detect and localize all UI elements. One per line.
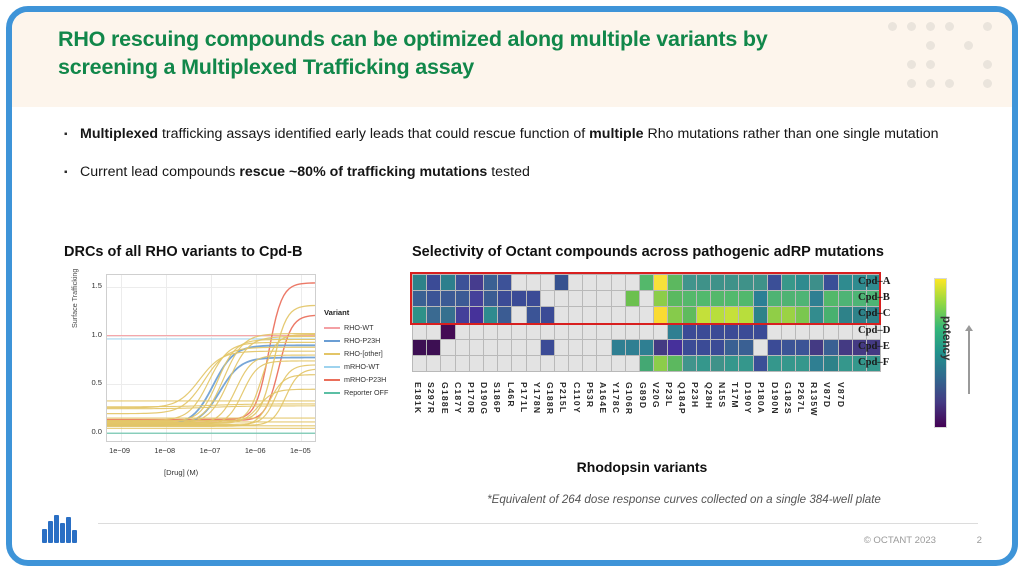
- copyright-text: © OCTANT 2023: [864, 535, 936, 546]
- heatmap-cell: [810, 307, 823, 322]
- heatmap-column-label: N15S: [717, 382, 727, 454]
- heatmap-cell: [498, 307, 511, 322]
- drc-legend-item: RHO-P23H: [324, 334, 394, 347]
- heatmap-cell: [470, 340, 483, 355]
- heatmap-cell: [484, 307, 497, 322]
- heatmap-cell: [413, 307, 426, 322]
- bullet-item: ▪ Multiplexed trafficking assays identif…: [64, 124, 974, 146]
- heatmap-cell: [796, 324, 809, 339]
- heatmap-cell: [527, 291, 540, 306]
- heatmap-cell: [597, 307, 610, 322]
- heatmap-cell: [512, 275, 525, 290]
- heatmap-cell: [668, 340, 681, 355]
- heatmap-cell: [668, 275, 681, 290]
- heatmap-cell: [839, 356, 852, 371]
- heatmap-cell: [427, 291, 440, 306]
- heatmap-row-label: Cpd–C: [852, 306, 890, 322]
- heatmap-cell: [484, 324, 497, 339]
- heatmap-cell: [640, 356, 653, 371]
- heatmap-cell: [597, 324, 610, 339]
- heatmap-cell: [640, 340, 653, 355]
- heatmap-cell: [413, 324, 426, 339]
- heatmap-cell: [725, 340, 738, 355]
- heatmap-cell: [597, 275, 610, 290]
- heatmap-column-label: G188E: [440, 382, 450, 454]
- drc-legend-label: RHO-WT: [344, 323, 374, 332]
- page-title: RHO rescuing compounds can be optimized …: [58, 25, 858, 82]
- heatmap-cell: [569, 356, 582, 371]
- heatmap-cell: [697, 340, 710, 355]
- heatmap-cell: [754, 324, 767, 339]
- heatmap-cell: [839, 307, 852, 322]
- heatmap-column-label: Q184P: [677, 382, 687, 454]
- heatmap-cell: [427, 324, 440, 339]
- logo-bar: [48, 521, 53, 543]
- heatmap-cell: [612, 275, 625, 290]
- heatmap-cell: [583, 307, 596, 322]
- heatmap-cell: [768, 275, 781, 290]
- heatmap-cell: [711, 340, 724, 355]
- heatmap-cell: [810, 356, 823, 371]
- drc-legend-title: Variant: [324, 308, 394, 317]
- heatmap-cell: [456, 340, 469, 355]
- drc-legend-swatch: [324, 353, 340, 355]
- heatmap-column-label: P23L: [664, 382, 674, 454]
- heatmap-cell: [754, 356, 767, 371]
- heatmap-cell: [697, 307, 710, 322]
- heatmap-column-label: D190G: [479, 382, 489, 454]
- drc-y-tick: 0.5: [78, 378, 102, 387]
- heatmap-row-label: Cpd–D: [852, 323, 890, 339]
- heatmap-cell: [626, 340, 639, 355]
- heatmap-cell: [612, 340, 625, 355]
- heatmap-column-label: G106R: [624, 382, 634, 454]
- heatmap-cell: [683, 307, 696, 322]
- heatmap-cell: [527, 307, 540, 322]
- heatmap-cell: [796, 275, 809, 290]
- heatmap-cell: [640, 275, 653, 290]
- drc-chart-title: DRCs of all RHO variants to Cpd-B: [64, 244, 302, 260]
- heatmap-column-label: V87D: [836, 382, 846, 454]
- heatmap-cell: [626, 324, 639, 339]
- potency-colorbar: potency: [934, 278, 947, 428]
- heatmap-cell: [555, 356, 568, 371]
- heatmap-cell: [725, 324, 738, 339]
- drc-x-tick: 1e−08: [154, 446, 175, 455]
- colorbar-label: potency: [940, 316, 953, 360]
- heatmap-cell: [555, 307, 568, 322]
- heatmap-cell: [739, 324, 752, 339]
- heatmap-cell: [569, 324, 582, 339]
- drc-legend: Variant RHO-WTRHO-P23HRHO-[other]mRHO-WT…: [324, 308, 394, 399]
- heatmap-cell: [697, 324, 710, 339]
- heatmap-cell: [654, 324, 667, 339]
- drc-legend-swatch: [324, 327, 340, 329]
- heatmap-cell: [541, 275, 554, 290]
- heatmap-cell: [711, 275, 724, 290]
- colorbar-up-arrow: [968, 330, 970, 394]
- heatmap-row-label: Cpd–F: [852, 355, 890, 371]
- heatmap-cell: [612, 324, 625, 339]
- heatmap-column-label: C110Y: [572, 382, 582, 454]
- heatmap-cell: [711, 356, 724, 371]
- heatmap-cell: [824, 307, 837, 322]
- bullet-item: ▪ Current lead compounds rescue ~80% of …: [64, 162, 974, 184]
- heatmap-cell: [782, 324, 795, 339]
- heatmap-cell: [654, 356, 667, 371]
- heatmap-title: Selectivity of Octant compounds across p…: [412, 244, 884, 260]
- footer-divider: [98, 523, 978, 524]
- heatmap-cell: [569, 275, 582, 290]
- heatmap-cell: [413, 291, 426, 306]
- heatmap-cell: [441, 340, 454, 355]
- heatmap-cell: [441, 324, 454, 339]
- heatmap: [412, 274, 881, 372]
- drc-legend-label: RHO-[other]: [344, 349, 383, 358]
- drc-y-tick: 1.5: [78, 281, 102, 290]
- heatmap-cell: [456, 275, 469, 290]
- heatmap-column-label: Y178C: [611, 382, 621, 454]
- heatmap-cell: [824, 291, 837, 306]
- heatmap-cell: [484, 356, 497, 371]
- heatmap-cell: [683, 275, 696, 290]
- heatmap-column-label: D190Y: [743, 382, 753, 454]
- heatmap-column-label: A164E: [598, 382, 608, 454]
- heatmap-cell: [725, 356, 738, 371]
- heatmap-cell: [683, 356, 696, 371]
- heatmap-cell: [597, 356, 610, 371]
- heatmap-cell: [413, 275, 426, 290]
- heatmap-column-label: Y178N: [532, 382, 542, 454]
- heatmap-cell: [541, 324, 554, 339]
- heatmap-cell: [640, 324, 653, 339]
- heatmap-cell: [569, 307, 582, 322]
- drc-legend-label: mRHO-WT: [344, 362, 380, 371]
- heatmap-cell: [654, 307, 667, 322]
- heatmap-cell: [824, 340, 837, 355]
- heatmap-cell: [583, 356, 596, 371]
- heatmap-cell: [512, 356, 525, 371]
- heatmap-cell: [470, 307, 483, 322]
- heatmap-column-label: P171L: [519, 382, 529, 454]
- heatmap-cell: [612, 307, 625, 322]
- heatmap-column-label: P180A: [756, 382, 766, 454]
- drc-y-axis-label: Surface Trafficking: [70, 269, 79, 328]
- heatmap-cell: [427, 307, 440, 322]
- heatmap-cell: [782, 340, 795, 355]
- heatmap-column-label: Q28H: [704, 382, 714, 454]
- heatmap-cell: [711, 291, 724, 306]
- heatmap-cell: [569, 291, 582, 306]
- heatmap-column-label: P215L: [558, 382, 568, 454]
- heatmap-cell: [796, 340, 809, 355]
- logo-bar: [42, 529, 47, 543]
- heatmap-cell: [512, 307, 525, 322]
- heatmap-column-label: C187Y: [453, 382, 463, 454]
- heatmap-cell: [768, 291, 781, 306]
- heatmap-cell: [441, 291, 454, 306]
- heatmap-cell: [668, 324, 681, 339]
- heatmap-cell: [796, 291, 809, 306]
- heatmap-cell: [654, 340, 667, 355]
- heatmap-cell: [456, 291, 469, 306]
- heatmap-column-label: S297R: [426, 382, 436, 454]
- heatmap-cell: [583, 275, 596, 290]
- heatmap-cell: [484, 340, 497, 355]
- heatmap-cell: [697, 291, 710, 306]
- heatmap-column-label: T17M: [730, 382, 740, 454]
- heatmap-cell: [413, 356, 426, 371]
- drc-x-axis-label: [Drug] (M): [164, 468, 198, 477]
- drc-legend-label: mRHO-P23H: [344, 375, 386, 384]
- decorative-dot-grid: [888, 22, 998, 100]
- bullet-text: Multiplexed trafficking assays identifie…: [80, 124, 939, 146]
- heatmap-cell: [555, 340, 568, 355]
- heatmap-cell: [683, 291, 696, 306]
- heatmap-cell: [470, 291, 483, 306]
- heatmap-cell: [668, 307, 681, 322]
- heatmap-cell: [626, 275, 639, 290]
- drc-legend-item: RHO-WT: [324, 321, 394, 334]
- bullet-list: ▪ Multiplexed trafficking assays identif…: [64, 124, 974, 200]
- heatmap-cell: [739, 275, 752, 290]
- heatmap-cell: [683, 324, 696, 339]
- heatmap-cell: [441, 307, 454, 322]
- heatmap-cell: [754, 307, 767, 322]
- heatmap-cell: [739, 307, 752, 322]
- heatmap-row-label: Cpd–A: [852, 274, 890, 290]
- heatmap-cell: [583, 291, 596, 306]
- heatmap-column-label: G188R: [545, 382, 555, 454]
- heatmap-column-label: S186P: [492, 382, 502, 454]
- heatmap-cell: [583, 324, 596, 339]
- heatmap-cell: [512, 340, 525, 355]
- heatmap-cell: [597, 340, 610, 355]
- heatmap-column-label: E181K: [413, 382, 423, 454]
- heatmap-cell: [541, 307, 554, 322]
- heatmap-cell: [484, 291, 497, 306]
- heatmap-row-label: Cpd–E: [852, 339, 890, 355]
- page-number: 2: [977, 535, 982, 546]
- heatmap-cell: [768, 340, 781, 355]
- drc-legend-item: mRHO-P23H: [324, 373, 394, 386]
- drc-y-tick: 0.0: [78, 427, 102, 436]
- heatmap-cell: [768, 307, 781, 322]
- heatmap-cell: [839, 275, 852, 290]
- heatmap-cell: [810, 291, 823, 306]
- heatmap-cell: [512, 324, 525, 339]
- heatmap-cell: [739, 340, 752, 355]
- heatmap-column-label: P170R: [466, 382, 476, 454]
- heatmap-row-label: Cpd–B: [852, 290, 890, 306]
- drc-legend-item: Reporter OFF: [324, 386, 394, 399]
- drc-legend-swatch: [324, 379, 340, 381]
- heatmap-cell: [654, 291, 667, 306]
- heatmap-cell: [668, 291, 681, 306]
- heatmap-cell: [697, 275, 710, 290]
- heatmap-cell: [754, 291, 767, 306]
- drc-legend-item: RHO-[other]: [324, 347, 394, 360]
- heatmap-cell: [768, 324, 781, 339]
- drc-chart: Surface Trafficking [Drug] (M) Variant R…: [72, 270, 392, 485]
- heatmap-column-label: P267L: [796, 382, 806, 454]
- heatmap-cell: [810, 340, 823, 355]
- heatmap-cell: [555, 291, 568, 306]
- heatmap-cell: [527, 324, 540, 339]
- heatmap-grid: [412, 274, 881, 372]
- heatmap-cell: [597, 291, 610, 306]
- heatmap-cell: [725, 275, 738, 290]
- heatmap-cell: [498, 291, 511, 306]
- heatmap-cell: [484, 275, 497, 290]
- heatmap-cell: [683, 340, 696, 355]
- heatmap-cell: [583, 340, 596, 355]
- drc-legend-swatch: [324, 340, 340, 342]
- heatmap-cell: [782, 275, 795, 290]
- heatmap-cell: [456, 356, 469, 371]
- heatmap-cell: [470, 275, 483, 290]
- heatmap-cell: [498, 324, 511, 339]
- drc-x-tick: 1e−06: [245, 446, 266, 455]
- drc-plot-area: [106, 274, 316, 442]
- heatmap-cell: [640, 307, 653, 322]
- bullet-text: Current lead compounds rescue ~80% of tr…: [80, 162, 530, 184]
- drc-x-tick: 1e−05: [290, 446, 311, 455]
- heatmap-cell: [555, 275, 568, 290]
- heatmap-cell: [796, 307, 809, 322]
- heatmap-cell: [626, 356, 639, 371]
- heatmap-cell: [754, 340, 767, 355]
- heatmap-cell: [796, 356, 809, 371]
- heatmap-cell: [768, 356, 781, 371]
- drc-legend-label: RHO-P23H: [344, 336, 380, 345]
- heatmap-cell: [739, 291, 752, 306]
- heatmap-cell: [427, 275, 440, 290]
- heatmap-cell: [498, 340, 511, 355]
- heatmap-cell: [711, 324, 724, 339]
- heatmap-cell: [569, 340, 582, 355]
- heatmap-cell: [824, 275, 837, 290]
- drc-x-tick: 1e−09: [109, 446, 130, 455]
- heatmap-column-label: P53R: [585, 382, 595, 454]
- bullet-marker: ▪: [64, 162, 80, 184]
- heatmap-column-label: R135W: [809, 382, 819, 454]
- heatmap-cell: [470, 324, 483, 339]
- drc-legend-label: Reporter OFF: [344, 388, 388, 397]
- heatmap-cell: [782, 307, 795, 322]
- logo-bar: [60, 523, 65, 543]
- heatmap-column-label: L46R: [506, 382, 516, 454]
- heatmap-cell: [612, 356, 625, 371]
- logo-bar: [66, 517, 71, 543]
- heatmap-cell: [541, 356, 554, 371]
- heatmap-column-label: G89D: [638, 382, 648, 454]
- heatmap-cell: [839, 340, 852, 355]
- octant-logo: [42, 513, 84, 543]
- heatmap-cell: [839, 324, 852, 339]
- drc-y-tick: 1.0: [78, 330, 102, 339]
- heatmap-cell: [441, 275, 454, 290]
- heatmap-cell: [470, 356, 483, 371]
- slide: RHO rescuing compounds can be optimized …: [6, 6, 1018, 566]
- heatmap-cell: [427, 340, 440, 355]
- heatmap-cell: [626, 307, 639, 322]
- heatmap-cell: [541, 340, 554, 355]
- drc-legend-swatch: [324, 392, 340, 394]
- drc-x-tick: 1e−07: [200, 446, 221, 455]
- heatmap-cell: [527, 275, 540, 290]
- heatmap-cell: [456, 324, 469, 339]
- heatmap-cell: [782, 291, 795, 306]
- heatmap-cell: [739, 356, 752, 371]
- heatmap-cell: [456, 307, 469, 322]
- heatmap-column-label: P23H: [690, 382, 700, 454]
- drc-legend-item: mRHO-WT: [324, 360, 394, 373]
- heatmap-cell: [654, 275, 667, 290]
- heatmap-column-label: D190N: [770, 382, 780, 454]
- heatmap-cell: [541, 291, 554, 306]
- logo-bar: [72, 530, 77, 543]
- heatmap-cell: [498, 275, 511, 290]
- heatmap-cell: [512, 291, 525, 306]
- heatmap-cell: [810, 324, 823, 339]
- heatmap-cell: [555, 324, 568, 339]
- heatmap-cell: [527, 356, 540, 371]
- heatmap-cell: [441, 356, 454, 371]
- heatmap-cell: [824, 356, 837, 371]
- heatmap-cell: [697, 356, 710, 371]
- heatmap-cell: [839, 291, 852, 306]
- heatmap-cell: [824, 324, 837, 339]
- heatmap-column-label: G182S: [783, 382, 793, 454]
- drc-legend-swatch: [324, 366, 340, 368]
- heatmap-cell: [413, 340, 426, 355]
- logo-bar: [54, 515, 59, 543]
- heatmap-cell: [810, 275, 823, 290]
- heatmap-cell: [725, 307, 738, 322]
- heatmap-cell: [711, 307, 724, 322]
- heatmap-column-label: V20G: [651, 382, 661, 454]
- heatmap-cell: [725, 291, 738, 306]
- heatmap-cell: [640, 291, 653, 306]
- bullet-marker: ▪: [64, 124, 80, 146]
- heatmap-cell: [782, 356, 795, 371]
- heatmap-cell: [498, 356, 511, 371]
- drc-curves: [107, 275, 315, 441]
- footnote: *Equivalent of 264 dose response curves …: [404, 493, 964, 506]
- heatmap-column-label: V87D: [822, 382, 832, 454]
- heatmap-x-axis-title: Rhodopsin variants: [412, 459, 872, 475]
- heatmap-cell: [612, 291, 625, 306]
- heatmap-cell: [527, 340, 540, 355]
- heatmap-cell: [427, 356, 440, 371]
- heatmap-cell: [626, 291, 639, 306]
- heatmap-cell: [668, 356, 681, 371]
- heatmap-row-labels: Cpd–ACpd–BCpd–CCpd–DCpd–ECpd–F: [852, 274, 890, 371]
- heatmap-cell: [754, 275, 767, 290]
